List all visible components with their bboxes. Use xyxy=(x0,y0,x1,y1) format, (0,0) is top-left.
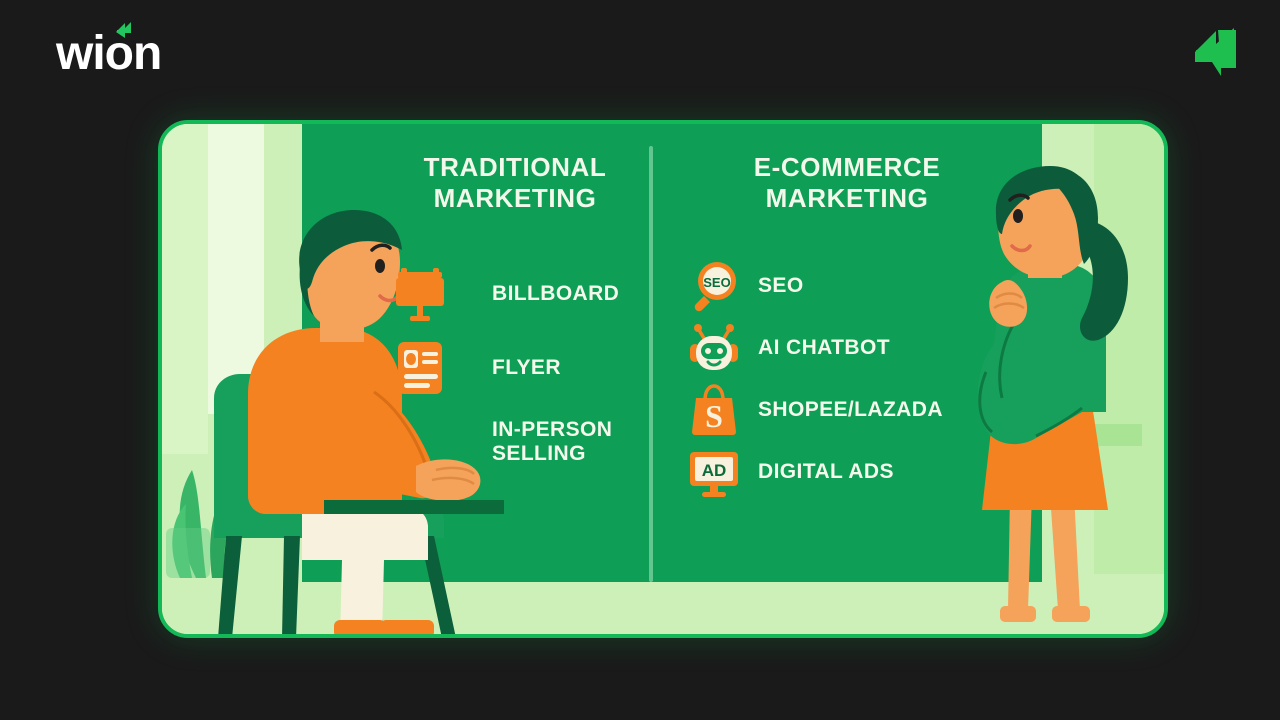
shopping-bag-icon-text: S xyxy=(705,398,723,434)
list-item-label-flyer: FLYER xyxy=(492,356,561,380)
column-title-traditional-line1: TRADITIONAL xyxy=(380,152,650,183)
list-item-label-in-person-line2: SELLING xyxy=(492,442,612,466)
list-item-label-billboard: BILLBOARD xyxy=(492,282,619,306)
brand-logo: wion xyxy=(56,30,161,78)
flyer-icon xyxy=(388,336,452,400)
column-title-traditional-line2: MARKETING xyxy=(380,183,650,214)
list-item-flyer[interactable]: FLYER xyxy=(380,331,650,405)
seo-magnifier-icon: SEO xyxy=(686,258,742,314)
list-item-shopee-lazada[interactable]: S SHOPEE/LAZADA xyxy=(682,379,1012,441)
ecommerce-items-list: SEO SEO xyxy=(682,255,1012,503)
column-traditional-marketing: TRADITIONAL MARKETING xyxy=(380,152,650,479)
list-item-label-in-person-selling: IN-PERSON SELLING xyxy=(492,418,612,466)
column-title-ecommerce-line1: E-COMMERCE xyxy=(682,152,1012,183)
column-title-traditional: TRADITIONAL MARKETING xyxy=(380,152,650,213)
billboard-icon xyxy=(388,262,452,326)
column-ecommerce-marketing: E-COMMERCE MARKETING SEO SEO xyxy=(682,152,1012,503)
list-item-label-in-person-line1: IN-PERSON xyxy=(492,418,612,442)
robot-icon xyxy=(686,320,742,376)
list-item-ai-chatbot[interactable]: AI CHATBOT xyxy=(682,317,1012,379)
traditional-items-list: BILLBOARD xyxy=(380,257,650,479)
ad-monitor-icon: AD xyxy=(686,444,742,500)
ad-monitor-icon-text: AD xyxy=(702,461,727,480)
infographic-card: TRADITIONAL MARKETING xyxy=(158,120,1168,638)
list-item-label-shopee-lazada: SHOPEE/LAZADA xyxy=(758,398,943,422)
list-item-label-digital-ads: DIGITAL ADS xyxy=(758,460,894,484)
column-title-ecommerce-line2: MARKETING xyxy=(682,183,1012,214)
list-item-in-person-selling[interactable]: IN-PERSON SELLING xyxy=(380,405,650,479)
list-item-label-seo: SEO xyxy=(758,274,804,298)
column-title-ecommerce: E-COMMERCE MARKETING xyxy=(682,152,1012,213)
seo-icon-text: SEO xyxy=(703,275,730,290)
list-item-label-ai-chatbot: AI CHATBOT xyxy=(758,336,890,360)
list-item-digital-ads[interactable]: AD DIGITAL ADS xyxy=(682,441,1012,503)
list-item-seo[interactable]: SEO SEO xyxy=(682,255,1012,317)
corner-arrow-up-right-icon xyxy=(1190,24,1244,80)
list-item-billboard[interactable]: BILLBOARD xyxy=(380,257,650,331)
brand-wordmark: wion xyxy=(56,30,161,78)
comparison-columns: TRADITIONAL MARKETING xyxy=(162,124,1164,634)
shopping-bag-icon: S xyxy=(686,382,742,438)
